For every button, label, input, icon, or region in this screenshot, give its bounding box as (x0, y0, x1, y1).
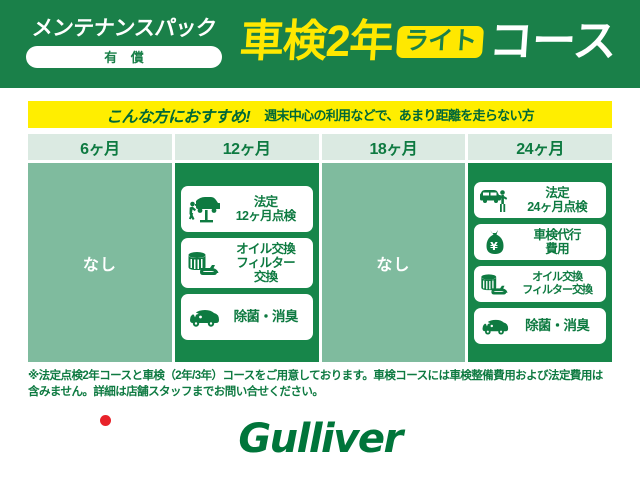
maintenance-schedule-table: 6ヶ月 なし 12ヶ月 (28, 134, 612, 362)
service-card-inspection-agency-fee[interactable]: ¥ 車検代行 費用 (474, 224, 606, 260)
brand-logo-text: Gulliver (238, 416, 401, 462)
svg-text:¥: ¥ (490, 240, 498, 253)
header-band: メンテナンスパック 有 償 車検2年 ライト コース (0, 0, 640, 88)
service-card-label: 法定 12ヶ月点検 (224, 195, 308, 223)
column-12months: 12ヶ月 (175, 134, 319, 362)
service-card-label: 法定 24ヶ月点検 (513, 186, 601, 214)
banner-lead-text: こんな方におすすめ! (106, 103, 250, 127)
column-header-label: 6ヶ月 (80, 135, 119, 159)
disclaimer-line-1: ※法定点検2年コースと車検（2年/3年）コースをご用意しております。車検コースに… (28, 368, 614, 384)
service-card-label: 除菌・消臭 (513, 318, 601, 333)
service-card-oil-filter-change[interactable]: オイル交換 フィルター交換 (474, 266, 606, 302)
column-header-18months: 18ヶ月 (322, 134, 466, 160)
service-card-label: 除菌・消臭 (224, 309, 308, 324)
maintenance-pack-block: メンテナンスパック 有 償 (26, 18, 222, 67)
column-24months: 24ヶ月 (468, 134, 612, 362)
recommendation-banner: こんな方におすすめ! 週末中心の利用などで、あまり距離を走らない方 (28, 101, 612, 128)
logo-red-dot (100, 415, 111, 426)
disclaimer-text: ※法定点検2年コースと車検（2年/3年）コースをご用意しております。車検コースに… (28, 368, 614, 401)
none-label: なし (376, 251, 410, 275)
car-sparkle-icon (479, 316, 509, 336)
column-6months: 6ヶ月 なし (28, 134, 172, 362)
paid-badge: 有 償 (26, 46, 222, 68)
lite-badge: ライト (396, 26, 484, 58)
car-sparkle-icon (186, 306, 220, 328)
column-18months: 18ヶ月 なし (322, 134, 466, 362)
money-bag-yen-icon: ¥ (479, 228, 509, 256)
brand-logo: Gulliver (0, 416, 640, 462)
column-body-6months: なし (28, 163, 172, 362)
service-card-legal-12month-inspection[interactable]: 法定 12ヶ月点検 (181, 186, 313, 232)
disclaimer-line-2: 含みません。詳細は店舗スタッフまでお問い合せください。 (28, 384, 614, 400)
service-card-label: オイル交換 フィルター交換 (513, 271, 601, 296)
oil-filter-icon (186, 247, 220, 279)
headline-course: コース (487, 20, 617, 64)
service-card-label: オイル交換 フィルター 交換 (224, 242, 308, 284)
advertisement-page: メンテナンスパック 有 償 車検2年 ライト コース こんな方におすすめ! 週末… (0, 0, 640, 480)
lite-badge-label: ライト (404, 29, 478, 54)
column-header-label: 12ヶ月 (223, 135, 271, 159)
car-inspection-person-icon (479, 187, 509, 213)
headline-block: 車検2年 ライト コース (240, 20, 615, 64)
oil-filter-icon (479, 270, 509, 298)
column-body-12months: 法定 12ヶ月点検 (175, 163, 319, 362)
column-header-24months: 24ヶ月 (468, 134, 612, 160)
headline-shaken-2year: 車検2年 (238, 20, 394, 64)
service-card-legal-24month-inspection[interactable]: 法定 24ヶ月点検 (474, 182, 606, 218)
column-header-label: 18ヶ月 (369, 135, 417, 159)
column-header-label: 24ヶ月 (516, 135, 564, 159)
paid-badge-label: 有 償 (99, 47, 149, 66)
banner-sub-text: 週末中心の利用などで、あまり距離を走らない方 (264, 105, 534, 124)
column-body-24months: 法定 24ヶ月点検 ¥ 車検代行 費用 (468, 163, 612, 362)
service-card-oil-filter-change[interactable]: オイル交換 フィルター 交換 (181, 238, 313, 288)
column-body-18months: なし (322, 163, 466, 362)
pack-title: メンテナンスパック (31, 18, 217, 40)
column-header-12months: 12ヶ月 (175, 134, 319, 160)
service-card-sanitize-deodorize[interactable]: 除菌・消臭 (181, 294, 313, 340)
column-header-6months: 6ヶ月 (28, 134, 172, 160)
none-label: なし (83, 251, 117, 275)
car-lift-inspection-icon (186, 194, 220, 224)
service-card-sanitize-deodorize[interactable]: 除菌・消臭 (474, 308, 606, 344)
service-card-label: 車検代行 費用 (513, 228, 601, 256)
